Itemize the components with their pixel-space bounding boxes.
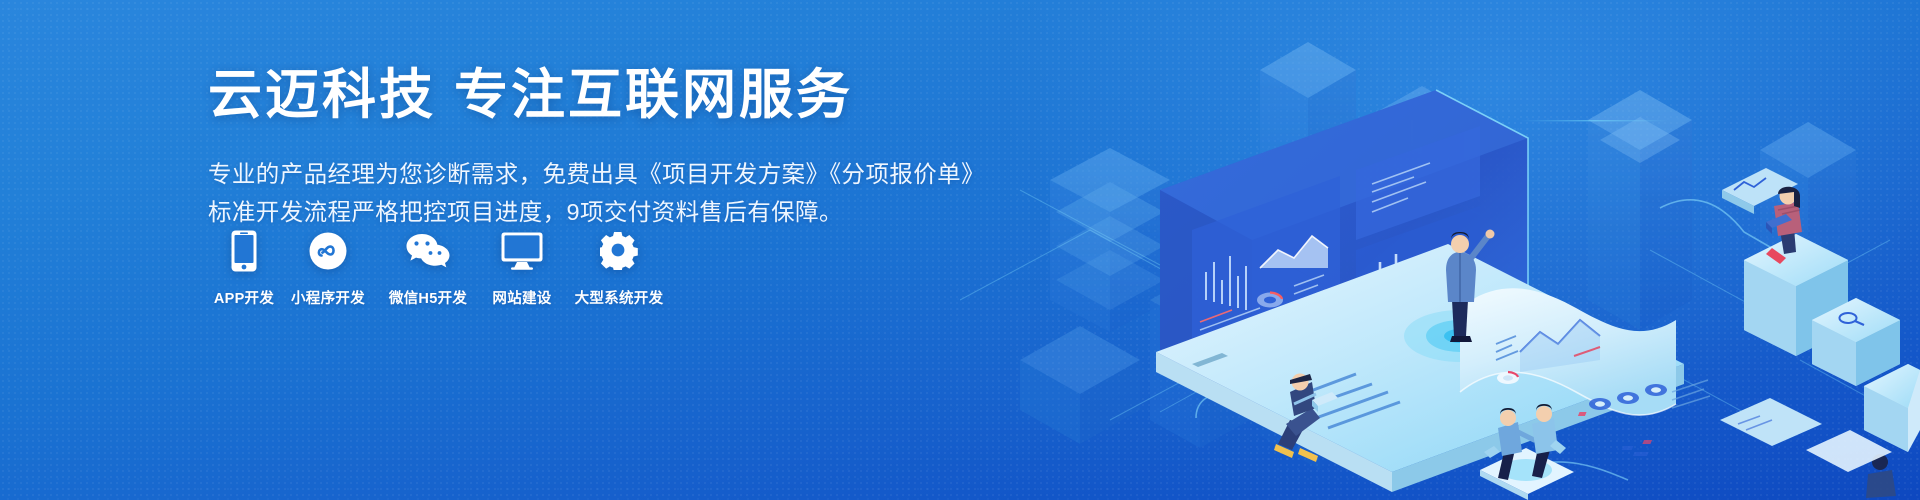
page-title: 云迈科技 专注互联网服务 <box>208 66 968 125</box>
hero-banner: 云迈科技 专注互联网服务 专业的产品经理为您诊断需求，免费出具《项目开发方案》《… <box>0 0 1920 500</box>
banner-copy: 云迈科技 专注互联网服务 专业的产品经理为您诊断需求，免费出具《项目开发方案》《… <box>208 66 968 232</box>
service-item-miniprogram[interactable]: 小程序开发 <box>280 228 376 308</box>
subtitle-line-2: 标准开发流程严格把控项目进度，9项交付资料售后有保障。 <box>208 193 968 231</box>
wechat-icon <box>406 228 450 274</box>
service-list: APP开发 小程序开发 微信 <box>208 228 674 308</box>
mobile-phone-icon <box>231 228 257 274</box>
gear-icon <box>600 228 638 274</box>
service-item-large-system[interactable]: 大型系统开发 <box>564 228 674 308</box>
service-item-app[interactable]: APP开发 <box>208 228 280 308</box>
illustration-isometric-data-dashboard <box>960 0 1920 500</box>
service-label: 微信H5开发 <box>389 287 467 308</box>
service-label: 小程序开发 <box>291 287 365 308</box>
service-label: APP开发 <box>214 287 274 308</box>
service-label: 大型系统开发 <box>575 287 664 308</box>
service-item-website[interactable]: 网站建设 <box>480 228 564 308</box>
mini-program-icon <box>309 228 347 274</box>
subtitle-line-1: 专业的产品经理为您诊断需求，免费出具《项目开发方案》《分项报价单》 <box>208 155 968 193</box>
service-item-wechat-h5[interactable]: 微信H5开发 <box>376 228 480 308</box>
service-label: 网站建设 <box>492 287 551 308</box>
banner-subtitle: 专业的产品经理为您诊断需求，免费出具《项目开发方案》《分项报价单》 标准开发流程… <box>208 155 968 231</box>
monitor-icon <box>501 228 543 274</box>
